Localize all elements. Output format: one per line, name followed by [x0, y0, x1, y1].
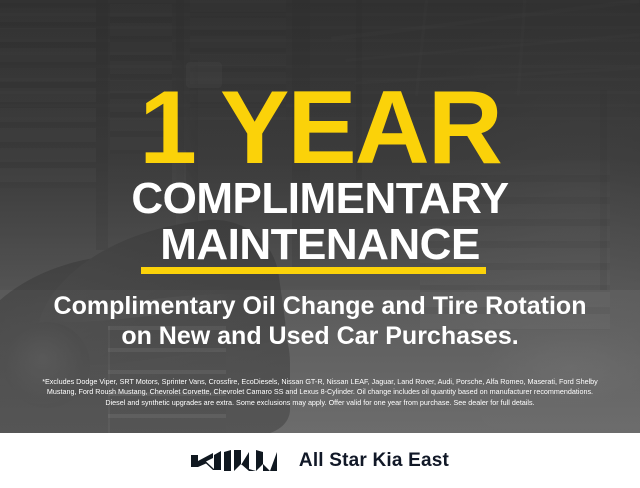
- headline-secondary-line1: COMPLIMENTARY: [0, 177, 640, 221]
- disclaimer-text: *Excludes Dodge Viper, SRT Motors, Sprin…: [14, 377, 626, 408]
- offer-description-line2: on New and Used Car Purchases.: [0, 322, 640, 351]
- disclaimer-line-3: Diesel and synthetic upgrades are extra.…: [14, 398, 626, 408]
- footer-bar: All Star Kia East: [0, 433, 640, 488]
- headline-secondary-line2: MAINTENANCE: [0, 223, 640, 267]
- yellow-divider-rule: [141, 267, 486, 274]
- disclaimer-line-2: Mustang, Ford Roush Mustang, Chevrolet C…: [14, 387, 626, 397]
- dealer-name: All Star Kia East: [299, 450, 449, 472]
- headline-primary: 1 YEAR: [0, 76, 640, 180]
- banner-copy: 1 YEAR COMPLIMENTARY MAINTENANCE Complim…: [0, 0, 640, 433]
- promo-banner: 1 YEAR COMPLIMENTARY MAINTENANCE Complim…: [0, 0, 640, 488]
- offer-description-line1: Complimentary Oil Change and Tire Rotati…: [0, 292, 640, 321]
- kia-logo: [191, 449, 277, 473]
- disclaimer-line-1: *Excludes Dodge Viper, SRT Motors, Sprin…: [14, 377, 626, 387]
